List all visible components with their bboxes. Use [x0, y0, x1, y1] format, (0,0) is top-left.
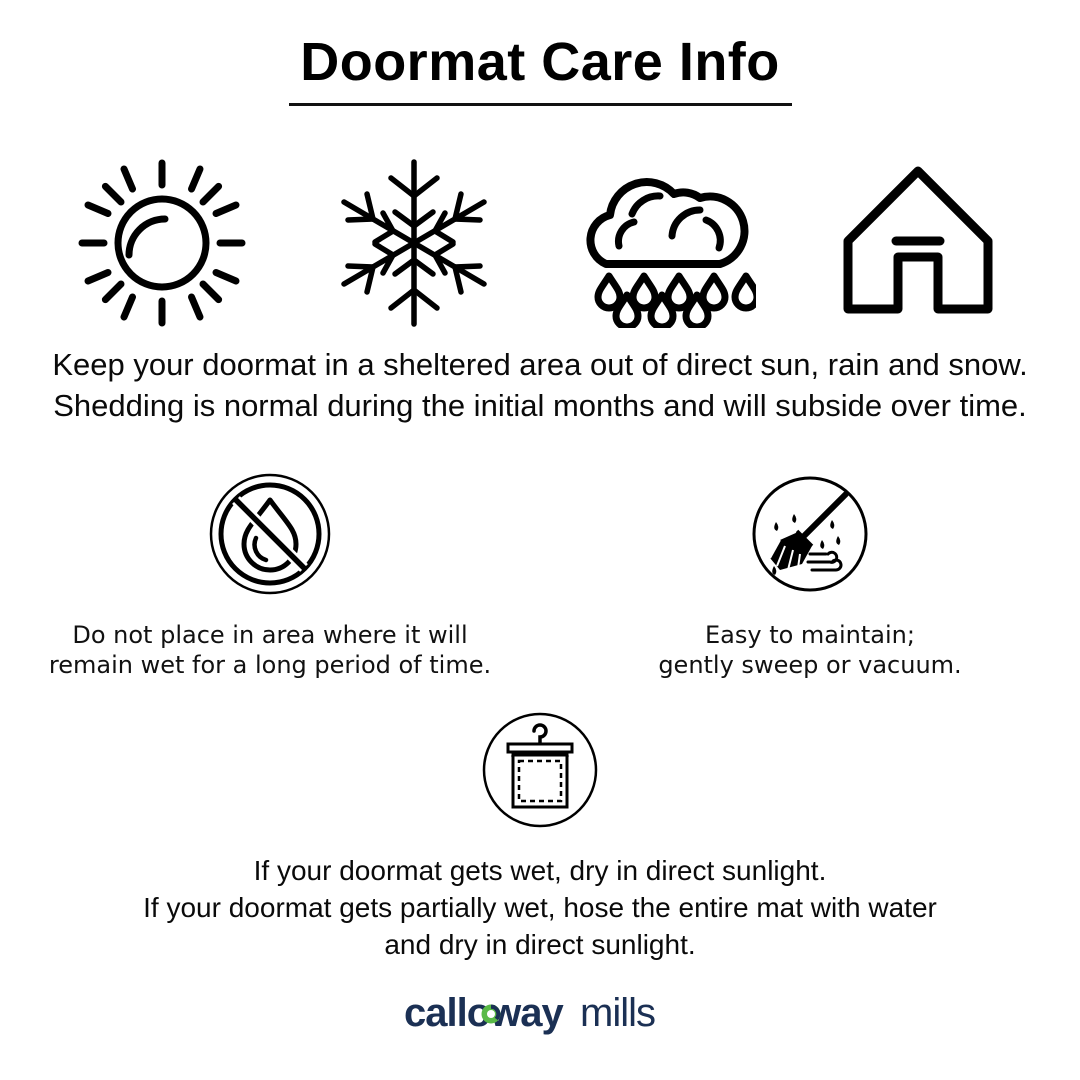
easy-maintain-caption-line-2: gently sweep or vacuum.	[658, 650, 961, 680]
intro-line-1: Keep your doormat in a sheltered area ou…	[0, 344, 1080, 385]
drying-caption-line-2: If your doormat gets partially wet, hose…	[143, 889, 937, 926]
care-items-row: Do not place in area where it will remai…	[0, 470, 1080, 680]
house-icon	[834, 157, 1002, 329]
drying-caption: If your doormat gets wet, dry in direct …	[143, 852, 937, 963]
hanging-mat-badge	[478, 708, 602, 832]
weather-icon-row	[0, 150, 1080, 335]
drying-caption-line-1: If your doormat gets wet, dry in direct …	[143, 852, 937, 889]
rain-cloud-icon-cell	[568, 153, 764, 333]
logo-word-mills: mills	[580, 991, 655, 1035]
intro-paragraph: Keep your doormat in a sheltered area ou…	[0, 344, 1080, 426]
care-item-easy-maintain: Easy to maintain; gently sweep or vacuum…	[540, 470, 1080, 680]
broom-badge	[746, 470, 874, 598]
house-icon-cell	[820, 153, 1016, 333]
hanging-mat-dry-icon	[481, 711, 599, 829]
easy-maintain-caption-line-1: Easy to maintain;	[658, 620, 961, 650]
title-underline-rule	[289, 103, 792, 106]
no-water-caption-line-1: Do not place in area where it will	[49, 620, 491, 650]
easy-maintain-caption: Easy to maintain; gently sweep or vacuum…	[658, 620, 961, 680]
rain-cloud-icon	[576, 158, 756, 328]
no-water-icon	[208, 472, 332, 596]
drying-caption-line-3: and dry in direct sunlight.	[143, 926, 937, 963]
calloway-mills-logo: calloway mills	[404, 990, 676, 1038]
no-water-caption: Do not place in area where it will remai…	[49, 620, 491, 680]
care-item-no-standing-water: Do not place in area where it will remai…	[0, 470, 540, 680]
snowflake-icon	[329, 154, 499, 332]
no-water-badge	[206, 470, 334, 598]
snowflake-icon-cell	[316, 153, 512, 333]
brand-logo: calloway mills	[0, 990, 1080, 1038]
drying-instructions-block: If your doormat gets wet, dry in direct …	[0, 708, 1080, 963]
sun-icon-cell	[64, 153, 260, 333]
no-water-caption-line-2: remain wet for a long period of time.	[49, 650, 491, 680]
broom-sweep-icon	[750, 474, 870, 594]
intro-line-2: Shedding is normal during the initial mo…	[0, 385, 1080, 426]
page-title: Doormat Care Info	[0, 34, 1080, 91]
page-header: Doormat Care Info	[0, 34, 1080, 106]
sun-icon	[69, 155, 255, 331]
doormat-care-info-page: Doormat Care Info	[0, 0, 1080, 1080]
